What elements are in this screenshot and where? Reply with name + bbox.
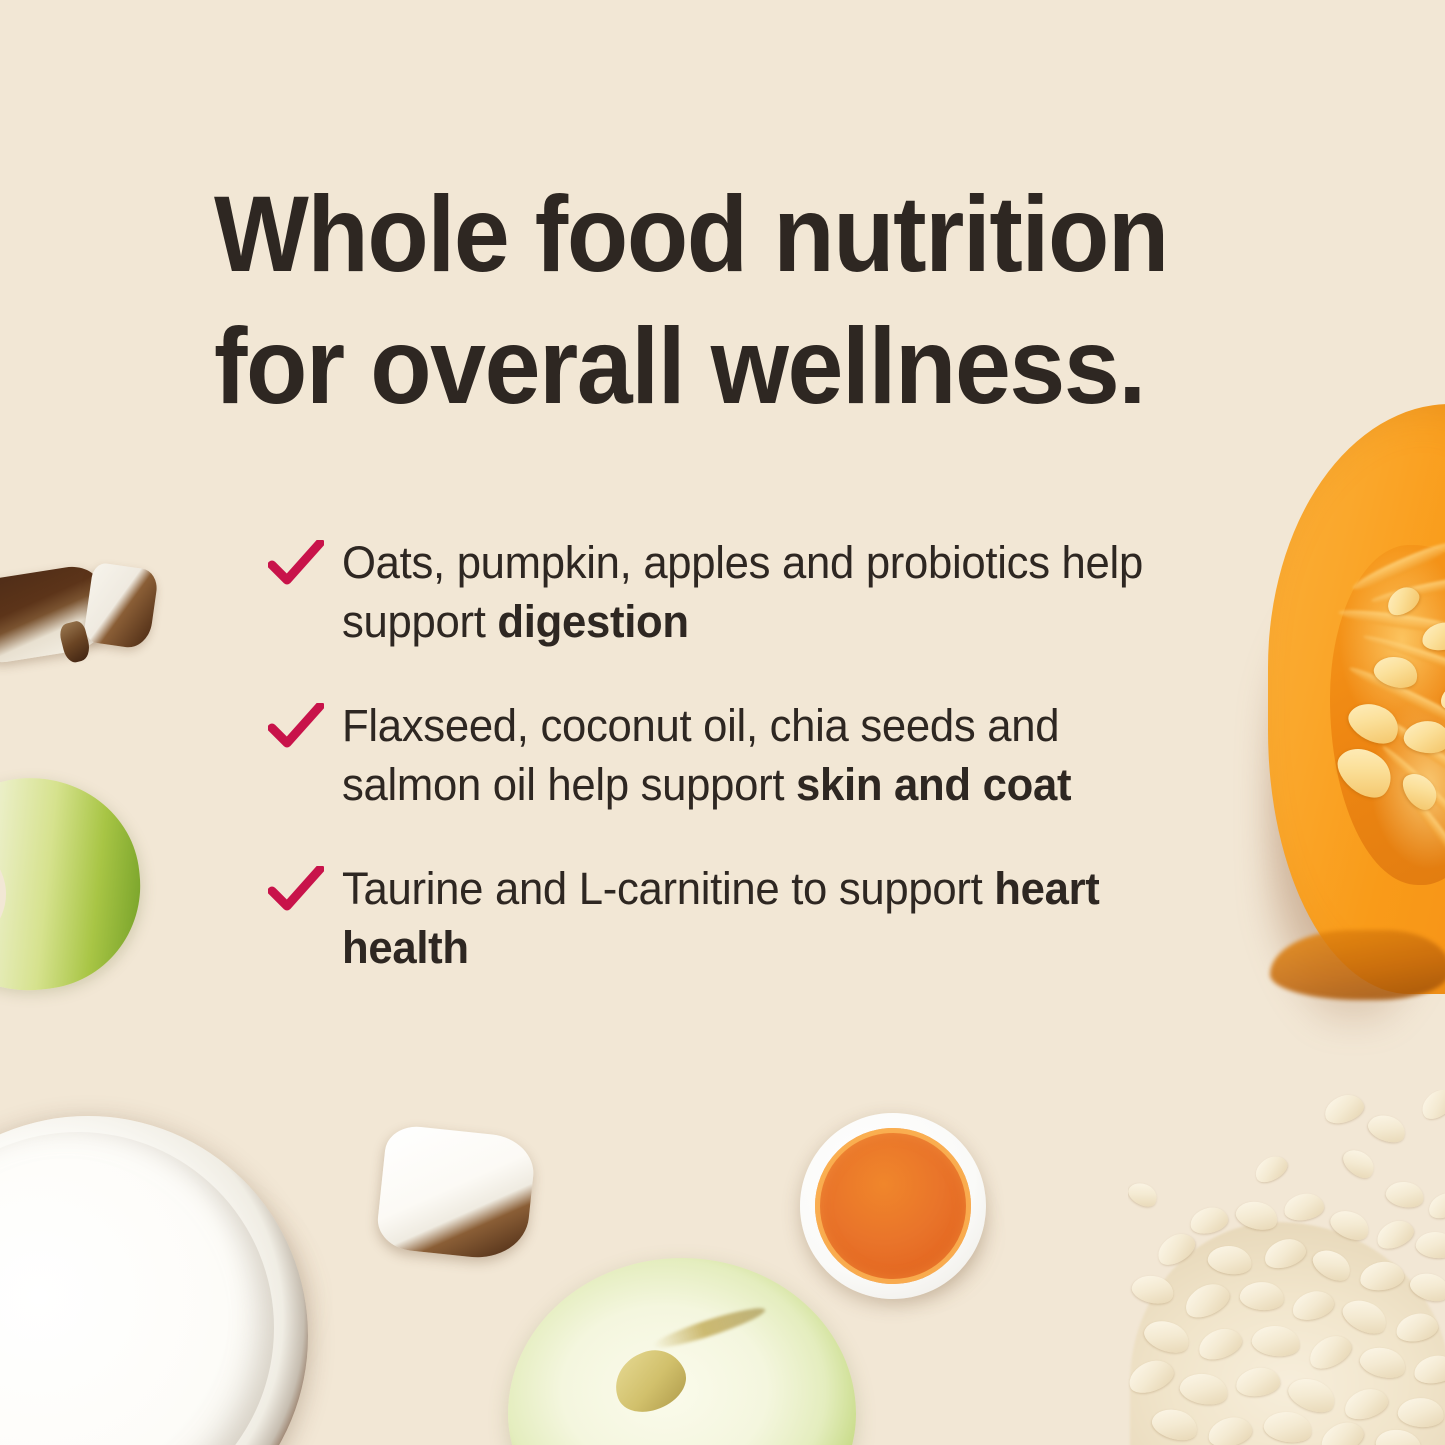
list-item: Oats, pumpkin, apples and probiotics hel…	[268, 534, 1208, 651]
product-benefits-poster: Whole food nutrition for overall wellnes…	[0, 0, 1445, 1445]
list-item: Flaxseed, coconut oil, chia seeds and sa…	[268, 697, 1208, 814]
coconut-chunk-image	[375, 1124, 537, 1263]
green-apple-half-image	[508, 1258, 856, 1445]
rolled-oats-image	[1128, 1090, 1445, 1445]
check-icon	[268, 540, 324, 588]
list-item-text: Flaxseed, coconut oil, chia seeds and sa…	[342, 697, 1182, 814]
page-title: Whole food nutrition for overall wellnes…	[214, 168, 1200, 432]
coconut-chunk-image	[83, 562, 159, 650]
benefit-text: Oats, pumpkin, apples and probiotics hel…	[342, 537, 1143, 647]
list-item-text: Taurine and L-carnitine to support heart…	[342, 860, 1182, 977]
benefits-list: Oats, pumpkin, apples and probiotics hel…	[268, 534, 1208, 977]
check-icon	[268, 703, 324, 751]
list-item-text: Oats, pumpkin, apples and probiotics hel…	[342, 534, 1182, 651]
benefit-emphasis: digestion	[497, 596, 688, 647]
pumpkin-rind	[1270, 930, 1445, 1000]
benefit-text: Taurine and L-carnitine to support	[342, 863, 994, 914]
benefit-emphasis: skin and coat	[796, 759, 1071, 810]
salmon-oil-rim-highlight	[815, 1128, 971, 1284]
list-item: Taurine and L-carnitine to support heart…	[268, 860, 1208, 977]
check-icon	[268, 866, 324, 914]
